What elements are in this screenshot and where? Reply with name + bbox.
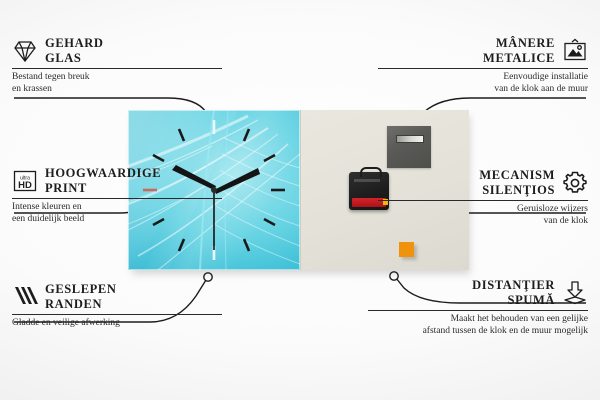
feature-subtitle: Intense kleuren en een duidelijk beeld (12, 202, 222, 225)
sub-line-2: van de klok aan de muur (494, 84, 588, 94)
divider (12, 314, 222, 315)
feature-title: MECANISM SILENŢIOS (479, 168, 555, 197)
feature-subtitle: Maakt het behouden van een gelijke afsta… (368, 314, 588, 337)
title-line-1: MECANISM (479, 168, 555, 182)
sub-line-2: van de klok (544, 216, 588, 226)
ultra-hd-icon: ultra HD (12, 168, 38, 194)
title-line-1: GESLEPEN (45, 282, 117, 296)
title-line-1: DISTANŢIER (472, 278, 555, 292)
feature-subtitle: Eenvoudige installatie van de klok aan d… (378, 72, 588, 95)
gear-icon (562, 170, 588, 196)
title-line-2: METALICE (483, 51, 555, 65)
sub-line-1: Bestand tegen breuk (12, 72, 90, 82)
divider (12, 68, 222, 69)
feature-subtitle: Bestand tegen breuk en krassen (12, 72, 222, 95)
title-line-1: MÂNERE (496, 36, 555, 50)
diagonal-stripes-icon (12, 284, 38, 310)
feature-title: GESLEPEN RANDEN (45, 282, 117, 311)
svg-text:HD: HD (18, 180, 32, 191)
divider (378, 200, 588, 201)
feature-subtitle: Geruisloze wijzers van de klok (378, 204, 588, 227)
feature-metal-handles: MÂNERE METALICE Eenvoudige installatie v… (378, 36, 588, 95)
sub-line-2: afstand tussen de klok en de muur mogeli… (423, 326, 588, 336)
feature-tempered-glass: GEHARD GLAS Bestand tegen breuk en krass… (12, 36, 222, 95)
feature-silent-mechanism: MECANISM SILENŢIOS Geruisloze wijzers va… (378, 168, 588, 227)
mechanism-label (354, 179, 380, 182)
divider (12, 198, 222, 199)
feature-title: MÂNERE METALICE (483, 36, 555, 65)
wire-dot-edges (204, 273, 212, 281)
picture-frame-hanger-icon (562, 38, 588, 64)
sub-line-1: Geruisloze wijzers (517, 204, 588, 214)
title-line-2: SPUMĂ (508, 293, 555, 307)
feature-title: HOOGWAARDIGE PRINT (45, 166, 161, 195)
title-line-2: GLAS (45, 51, 81, 65)
infographic-canvas: GEHARD GLAS Bestand tegen breuk en krass… (0, 0, 600, 400)
sub-line-1: Maakt het behouden van een gelijke (451, 314, 588, 324)
feature-title: DISTANŢIER SPUMĂ (472, 278, 555, 307)
metal-hanger (387, 126, 431, 168)
arrow-down-onto-pad-icon (562, 280, 588, 306)
feature-foam-spacer: DISTANŢIER SPUMĂ Maakt het behouden van … (368, 278, 588, 337)
sub-line-2: een duidelijk beeld (12, 214, 84, 224)
sub-line-1: Intense kleuren en (12, 202, 82, 212)
title-line-2: SILENŢIOS (482, 183, 555, 197)
foam-spacer (399, 242, 414, 257)
title-line-1: HOOGWAARDIGE (45, 166, 161, 180)
sub-line-1: Gladde en veilige afwerking (12, 318, 120, 328)
title-line-1: GEHARD (45, 36, 103, 50)
sub-line-2: en krassen (12, 84, 52, 94)
feature-title: GEHARD GLAS (45, 36, 103, 65)
diamond-icon (12, 38, 38, 64)
feature-polished-edges: GESLEPEN RANDEN Gladde en veilige afwerk… (12, 282, 222, 330)
feature-subtitle: Gladde en veilige afwerking (12, 318, 222, 330)
divider (378, 68, 588, 69)
title-line-2: PRINT (45, 181, 87, 195)
sub-line-1: Eenvoudige installatie (503, 72, 588, 82)
divider (368, 310, 588, 311)
title-line-2: RANDEN (45, 297, 102, 311)
hanger-slot (396, 135, 424, 143)
feature-high-quality-print: ultra HD HOOGWAARDIGE PRINT Intense kleu… (12, 166, 222, 225)
